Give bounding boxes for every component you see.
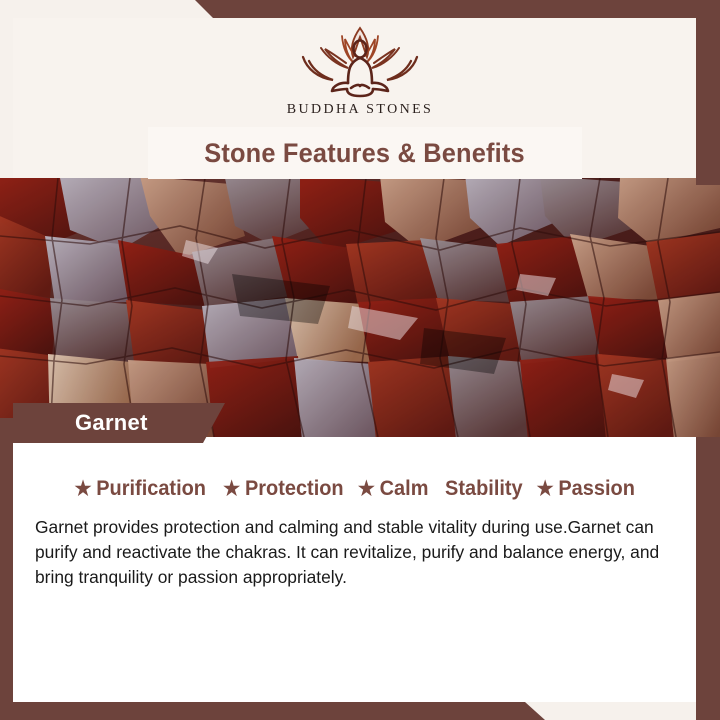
brand-logo: BUDDHA STONES <box>0 24 720 118</box>
stone-name-tag: Garnet <box>13 403 225 443</box>
lotus-meditation-icon <box>285 24 435 98</box>
stone-features-card: BUDDHA STONES Stone Features & Benefits <box>0 0 720 720</box>
stone-description: Garnet provides protection and calming a… <box>35 515 674 591</box>
benefit-item-0: ★ Purification <box>75 477 207 501</box>
star-icon: ★ <box>223 479 240 499</box>
content-panel: ★ Purification ★ Protection ★ Calm Stabi… <box>13 443 696 702</box>
star-icon: ★ <box>358 479 375 499</box>
benefit-item-3: Stability <box>445 477 523 501</box>
frame-top-bar <box>0 0 720 18</box>
benefit-item-4: ★ Passion <box>537 477 635 501</box>
benefit-label: Passion <box>559 477 636 501</box>
star-icon: ★ <box>537 479 554 499</box>
benefits-row: ★ Purification ★ Protection ★ Calm Stabi… <box>13 477 696 501</box>
stone-name-label: Garnet <box>75 410 148 436</box>
frame-left-bar <box>0 418 13 720</box>
frame-right-bar-upper <box>696 0 720 185</box>
garnet-crystal-cluster-illustration <box>0 178 720 437</box>
benefit-item-1: ★ Protection <box>223 477 343 501</box>
benefit-label: Purification <box>96 477 206 501</box>
benefit-item-2: ★ Calm <box>358 477 429 501</box>
star-icon: ★ <box>75 479 92 499</box>
benefit-label: Calm <box>380 477 429 501</box>
page-title: Stone Features & Benefits <box>205 138 526 169</box>
benefit-label: Stability <box>445 477 523 501</box>
stone-photo <box>0 178 720 437</box>
frame-right-bar-lower <box>696 437 720 720</box>
title-banner: Stone Features & Benefits <box>148 127 582 179</box>
brand-name: BUDDHA STONES <box>287 102 433 118</box>
frame-bottom-bar <box>0 702 720 720</box>
benefit-label: Protection <box>245 477 344 501</box>
